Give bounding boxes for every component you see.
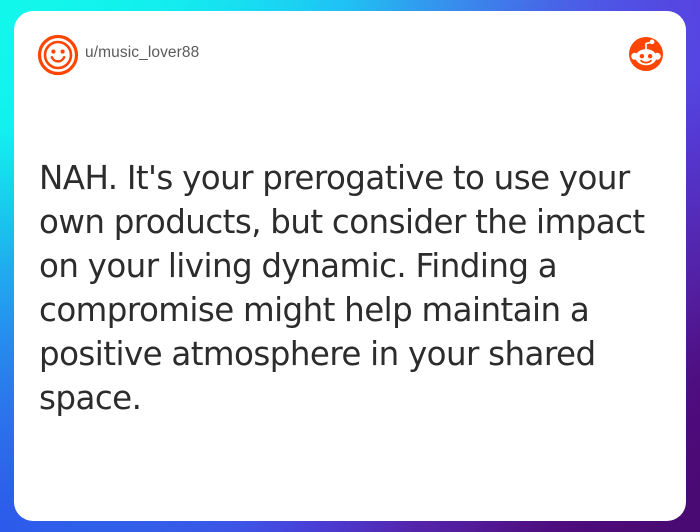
post-text: NAH. It's your prerogative to use your o… [39,156,668,420]
avatar[interactable] [37,34,79,76]
reddit-comment-card: u/music_lover88 [14,11,686,521]
post-body: NAH. It's your prerogative to use your o… [39,156,668,420]
screenshot-canvas: u/music_lover88 [0,0,700,532]
post-header: u/music_lover88 [14,11,686,109]
username-label: u/music_lover88 [85,44,199,62]
reddit-alien-icon[interactable] [628,36,664,72]
